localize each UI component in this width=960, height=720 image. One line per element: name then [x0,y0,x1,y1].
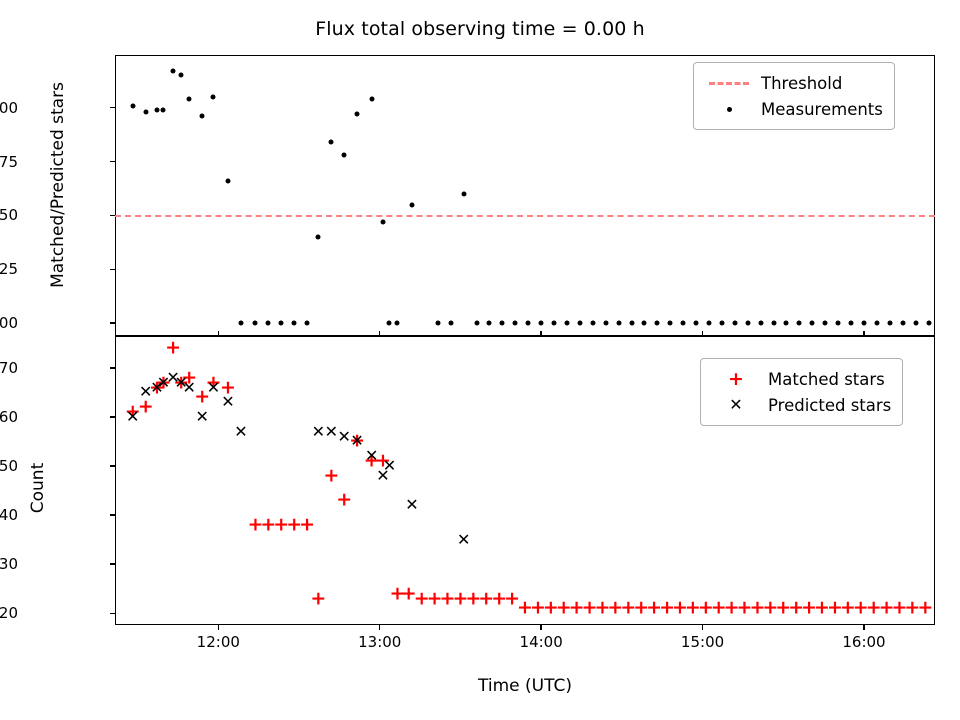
measurement-point [681,321,686,326]
predicted-star-marker: ✕ [457,532,470,548]
threshold-line [115,215,935,217]
measurement-point [171,69,176,74]
measurement-point [732,321,737,326]
measurement-point [629,321,634,326]
xtick-label: 16:00 [842,633,885,651]
figure-title: Flux total observing time = 0.00 h [0,18,960,40]
predicted-star-marker: ✕ [383,458,396,474]
measurement-point [355,112,360,117]
measurement-point [487,321,492,326]
legend-item-measurements: Measurements [703,96,883,122]
measurement-point [410,202,415,207]
measurement-point [590,321,595,326]
matched-star-marker: + [310,589,326,608]
predicted-star-marker: ✕ [325,424,338,440]
measurement-point [225,178,230,183]
measurement-point [154,107,159,112]
measurement-point [874,321,879,326]
measurement-point [200,114,205,119]
measurement-point [694,321,699,326]
bottom-panel-legend: + Matched stars ✕ Predicted stars [700,358,903,426]
xtick-label: 12:00 [197,633,240,651]
predicted-star-marker: ✕ [195,409,208,425]
xtick-label: 13:00 [358,633,401,651]
predicted-star-marker: ✕ [365,448,378,464]
bottom-panel-ytick-label: 70 [0,359,18,377]
top-panel-ytick-mark [110,322,115,323]
matched-star-marker: + [323,466,339,485]
legend-item-matched-stars: + Matched stars [710,366,891,392]
measurement-point [130,103,135,108]
measurement-point [238,321,243,326]
xtick-label: 15:00 [681,633,724,651]
bottom-panel-ytick-mark [110,514,115,515]
measurement-point [143,110,148,115]
measurement-point [380,219,385,224]
xtick-label: 14:00 [520,633,563,651]
measurement-point [913,321,918,326]
top-panel-xtick-mark [218,331,219,336]
measurement-point [926,321,931,326]
dot-icon [703,107,755,112]
measurement-point [526,321,531,326]
measurement-point [810,321,815,326]
xtick-mark [863,625,864,630]
bottom-panel-ylabel: Count [28,378,48,598]
measurement-point [797,321,802,326]
top-panel-xtick-mark [379,331,380,336]
measurement-point [179,73,184,78]
top-panel-ytick-mark [110,269,115,270]
measurement-point [771,321,776,326]
measurement-point [279,321,284,326]
top-panel-ytick-label: 0.75 [0,153,18,171]
top-panel-ytick-label: 1.00 [0,99,18,117]
plus-icon: + [710,370,762,389]
legend-item-predicted-stars: ✕ Predicted stars [710,392,891,418]
top-panel-ytick-label: 0.00 [0,314,18,332]
predicted-star-marker: ✕ [350,433,363,449]
measurement-point [577,321,582,326]
measurement-point [539,321,544,326]
measurement-point [266,321,271,326]
matched-star-marker: + [165,339,181,358]
bottom-panel-ytick-mark [110,465,115,466]
measurement-point [305,321,310,326]
top-panel-ylabel: Matched/Predicted stars [48,55,68,315]
measurement-point [668,321,673,326]
measurement-point [500,321,505,326]
measurement-point [552,321,557,326]
dashed-line-icon [703,82,755,85]
matched-star-marker: + [299,515,315,534]
measurement-point [784,321,789,326]
top-panel-xtick-mark [863,331,864,336]
xtick-mark [540,625,541,630]
measurement-point [836,321,841,326]
xaxis-label: Time (UTC) [115,676,935,696]
bottom-panel-ytick-label: 30 [0,555,18,573]
top-panel-xtick-mark [702,331,703,336]
legend-label-matched-stars: Matched stars [762,370,885,389]
predicted-star-marker: ✕ [405,497,418,513]
top-panel-ytick-label: 0.50 [0,206,18,224]
measurement-point [719,321,724,326]
measurement-point [616,321,621,326]
matched-star-marker: + [917,599,933,618]
bottom-panel-ytick-label: 40 [0,506,18,524]
legend-label-predicted-stars: Predicted stars [762,396,891,415]
matched-star-marker: + [336,491,352,510]
measurement-point [316,234,321,239]
measurement-point [707,321,712,326]
measurement-point [161,107,166,112]
measurement-point [387,321,392,326]
measurement-point [211,94,216,99]
xtick-mark [702,625,703,630]
measurement-point [253,321,258,326]
measurement-point [292,321,297,326]
measurement-point [900,321,905,326]
predicted-star-marker: ✕ [312,424,325,440]
bottom-panel-ytick-label: 50 [0,457,18,475]
predicted-star-marker: ✕ [234,424,247,440]
legend-label-threshold: Threshold [755,74,842,93]
bottom-panel-ytick-mark [110,367,115,368]
measurement-point [448,321,453,326]
bottom-panel-ytick-mark [110,613,115,614]
predicted-star-marker: ✕ [338,429,351,445]
measurement-point [603,321,608,326]
measurement-point [564,321,569,326]
cross-icon: ✕ [710,397,762,413]
xtick-mark [379,625,380,630]
xtick-mark [218,625,219,630]
measurement-point [887,321,892,326]
top-panel-ytick-mark [110,107,115,108]
top-panel-ytick-label: 0.25 [0,260,18,278]
measurement-point [435,321,440,326]
bottom-panel-ytick-label: 60 [0,408,18,426]
measurement-point [342,153,347,158]
measurement-point [461,191,466,196]
measurement-point [655,321,660,326]
measurement-point [642,321,647,326]
measurement-point [369,97,374,102]
top-panel-legend: Threshold Measurements [693,62,895,130]
legend-label-measurements: Measurements [755,100,883,119]
measurement-point [395,321,400,326]
measurement-point [745,321,750,326]
legend-item-threshold: Threshold [703,70,883,96]
measurement-point [474,321,479,326]
top-panel-ytick-mark [110,161,115,162]
measurement-point [513,321,518,326]
predicted-star-marker: ✕ [126,409,139,425]
bottom-panel-ytick-label: 20 [0,604,18,622]
measurement-point [823,321,828,326]
figure-canvas: Flux total observing time = 0.00 h Match… [0,0,960,720]
predicted-star-marker: ✕ [183,380,196,396]
predicted-star-marker: ✕ [207,380,220,396]
measurement-point [861,321,866,326]
measurement-point [849,321,854,326]
measurement-point [758,321,763,326]
bottom-panel-ytick-mark [110,563,115,564]
measurement-point [329,140,334,145]
top-panel-xtick-mark [540,331,541,336]
predicted-star-marker: ✕ [221,394,234,410]
bottom-panel-ytick-mark [110,416,115,417]
measurement-point [187,97,192,102]
